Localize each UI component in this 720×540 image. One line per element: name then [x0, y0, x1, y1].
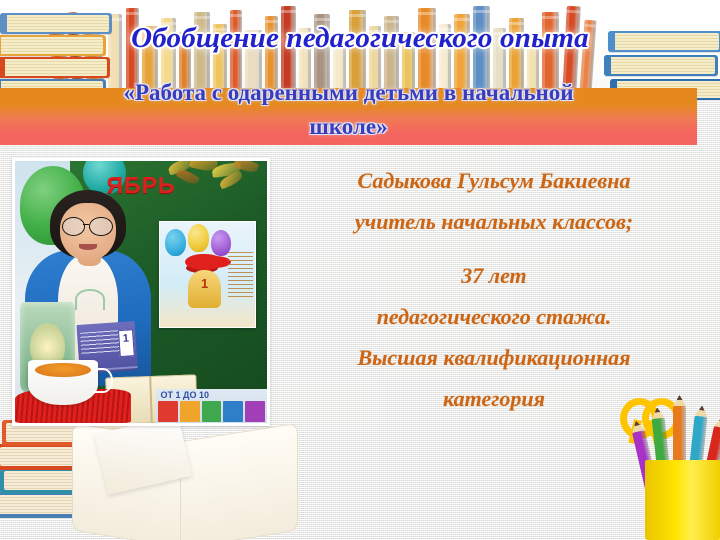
subtitle-block: «Работа с одаренными детьми в начальной … — [0, 76, 697, 144]
poster-text-lines — [228, 252, 253, 299]
experience-label: педагогического стажа. — [292, 296, 696, 337]
teacher-name: Садыкова Гульсум Бакиевна — [292, 160, 696, 201]
notebook-text-lines — [81, 331, 122, 356]
number-cell-8 — [223, 401, 243, 422]
teacher-position: учитель начальных классов; — [292, 201, 696, 242]
number-line-label: ОТ 1 ДО 10 — [161, 390, 209, 400]
notebook-badge: 1 — [118, 330, 135, 358]
poster-red-bow — [185, 254, 223, 271]
eyeglasses-bridge — [83, 224, 89, 226]
number-cell-5 — [158, 401, 178, 422]
open-book-right-page — [180, 423, 298, 540]
subtitle-line-2: школе» — [0, 110, 697, 144]
poster-balloon-yellow — [188, 224, 209, 251]
eyeglasses-right-lens — [89, 217, 112, 236]
pencil-cup — [645, 460, 720, 540]
number-cell-9 — [245, 401, 265, 422]
tea-surface — [35, 363, 90, 377]
teacher-photo: ЯБРЬ 1 — [15, 161, 267, 423]
autumn-leaves-decor — [161, 161, 267, 227]
stacked-book-1 — [604, 55, 718, 76]
teacher-info-block: Садыкова Гульсум Бакиевна учитель началь… — [292, 160, 696, 419]
qualification-line1: Высшая квалификационная — [292, 337, 696, 378]
experience-years: 37 лет — [292, 255, 696, 296]
subtitle-line-1: «Работа с одаренными детьми в начальной — [0, 76, 697, 110]
lantern-handle — [75, 289, 104, 309]
notebook-badge-number: 1 — [119, 333, 133, 346]
poster-balloon-blue — [165, 229, 186, 256]
number-line-cells — [158, 401, 264, 422]
tea-cup-handle — [93, 368, 113, 393]
poster-number: 1 — [188, 276, 221, 291]
september-poster: 1 — [159, 221, 257, 328]
page-title: Обобщение педагогического опыта — [0, 22, 720, 55]
slide-root: Обобщение педагогического опыта «Работа … — [0, 0, 720, 540]
stacked-book-1 — [0, 57, 110, 78]
open-book-icon — [72, 420, 300, 540]
number-cell-6 — [180, 401, 200, 422]
number-cell-7 — [202, 401, 222, 422]
info-spacer — [292, 242, 696, 255]
number-line-poster: ОТ 1 ДО 10 — [156, 389, 267, 423]
qualification-line2: категория — [292, 378, 696, 419]
teacher-photo-frame: ЯБРЬ 1 — [12, 158, 270, 426]
poster-bell: 1 — [188, 270, 221, 308]
autumn-leaf-4 — [176, 167, 200, 186]
